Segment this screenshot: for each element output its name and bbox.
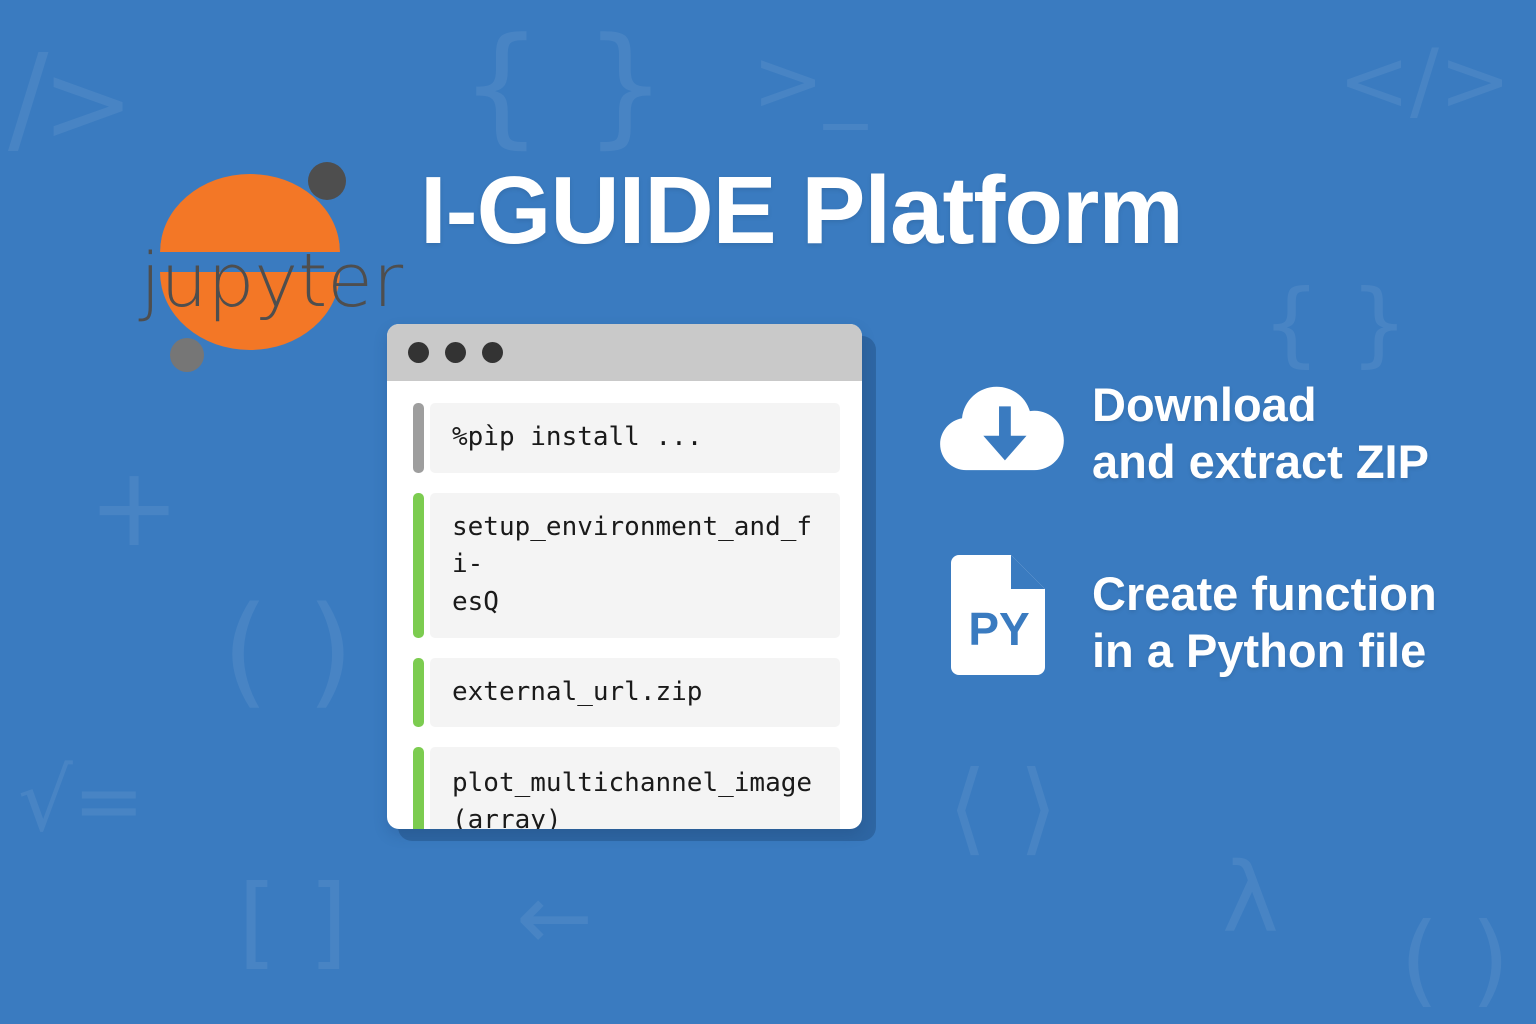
background-symbol: ← (516, 872, 593, 964)
minimize-dot-icon[interactable] (445, 342, 466, 363)
background-symbol: + (88, 452, 180, 562)
background-symbol: [ ] (238, 872, 348, 972)
poster-canvas: />{ }>_</>{ }+( )√=[ ]←⟨ ⟩λ( ) jupyter I… (0, 0, 1536, 1024)
maximize-dot-icon[interactable] (482, 342, 503, 363)
cell-code-text[interactable]: external_url.zip (430, 658, 840, 728)
background-symbol: / (8, 40, 48, 160)
jupyter-logo: jupyter (140, 150, 360, 380)
notebook-cell[interactable]: setup_environment_and_fi- esQ (413, 493, 840, 638)
jupyter-wordmark: jupyter (140, 238, 360, 324)
close-dot-icon[interactable] (408, 342, 429, 363)
background-symbol: { } (1262, 278, 1408, 370)
notebook-cell[interactable]: external_url.zip (413, 658, 840, 728)
background-symbol: >_ (752, 38, 867, 124)
background-symbol: > (42, 48, 134, 158)
feature-list: Download and extract ZIP PY Create funct… (938, 362, 1498, 739)
background-symbol: λ (1222, 850, 1279, 946)
page-title: I-GUIDE Platform (420, 156, 1183, 266)
background-symbol: </> (1338, 38, 1511, 124)
svg-text:PY: PY (968, 603, 1029, 655)
background-symbol: ( ) (1400, 910, 1510, 1010)
cell-status-bar (413, 747, 424, 829)
feature-python-file-label: Create function in a Python file (1092, 551, 1437, 680)
background-symbol: ( ) (222, 592, 354, 712)
cell-status-bar (413, 403, 424, 473)
cell-code-text[interactable]: setup_environment_and_fi- esQ (430, 493, 840, 638)
notebook-titlebar (387, 324, 862, 381)
cell-code-text[interactable]: plot_multichannel_image (array) (430, 747, 840, 829)
cell-status-bar (413, 493, 424, 638)
feature-download-label: Download and extract ZIP (1092, 362, 1429, 491)
jupyter-dot-top-icon (308, 162, 346, 200)
background-symbol: √= (18, 758, 145, 844)
feature-download: Download and extract ZIP (938, 362, 1498, 491)
background-symbol: { } (460, 20, 667, 150)
notebook-cell-list: %pìp install ...setup_environment_and_fi… (387, 381, 862, 829)
background-symbol: ⟨ ⟩ (948, 758, 1058, 858)
notebook-cell[interactable]: %pìp install ... (413, 403, 840, 473)
cell-code-text[interactable]: %pìp install ... (430, 403, 840, 473)
notebook-window: %pìp install ...setup_environment_and_fi… (387, 324, 862, 829)
jupyter-dot-bottom-icon (170, 338, 204, 372)
notebook-cell[interactable]: plot_multichannel_image (array) (413, 747, 840, 829)
python-file-icon: PY (938, 551, 1064, 677)
cell-status-bar (413, 658, 424, 728)
cloud-download-icon (938, 362, 1064, 488)
feature-python-file: PY Create function in a Python file (938, 551, 1498, 680)
